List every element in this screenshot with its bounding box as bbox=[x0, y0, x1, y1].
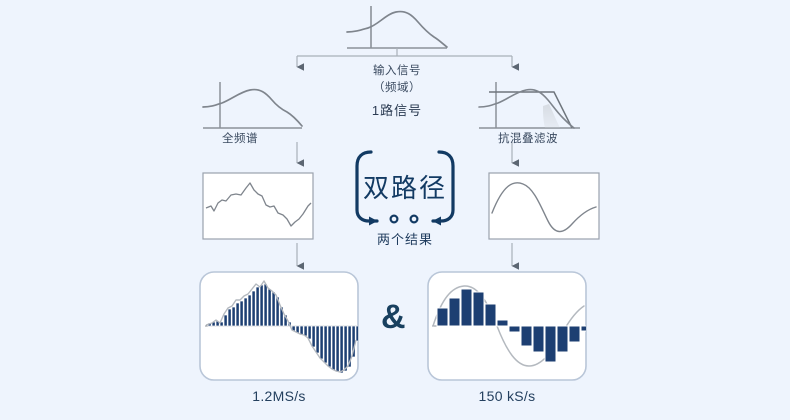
branch-label-anti-alias: 抗混叠滤波 bbox=[498, 130, 678, 146]
bracket-dot-right bbox=[411, 216, 418, 223]
filter-response-curve bbox=[489, 92, 572, 128]
rate-label-low: 150 kS/s bbox=[427, 388, 587, 404]
sine-box bbox=[489, 173, 599, 239]
wideband-box bbox=[203, 173, 313, 239]
ampersand-separator: & bbox=[381, 300, 406, 334]
input-signal-label-line2: （频域） bbox=[347, 79, 447, 95]
chart-anti-alias-filter bbox=[479, 82, 580, 128]
panel-high-rate-result bbox=[200, 272, 359, 380]
input-channel-count-label: 1路信号 bbox=[337, 100, 457, 119]
dual-path-badge-label: 双路径 bbox=[355, 168, 455, 205]
full-spectrum-curve bbox=[203, 90, 302, 126]
input-signal-label-line1: 输入信号 bbox=[347, 62, 447, 78]
branch-label-full-spectrum: 全频谱 bbox=[222, 130, 382, 146]
filter-stopband-shading bbox=[543, 104, 560, 128]
chart-full-spectrum bbox=[203, 82, 302, 128]
chart-input-spectrum bbox=[347, 6, 447, 48]
chart-sine-timeseries bbox=[489, 173, 599, 239]
panel-low-rate-result bbox=[428, 272, 589, 380]
chart-wideband-timeseries bbox=[203, 173, 313, 239]
bracket-dot-left bbox=[391, 216, 398, 223]
filter-signal-curve bbox=[479, 90, 574, 128]
diagram-canvas: 输入信号 （频域） 1路信号 全频谱 抗混叠滤波 双路径 两个结果 & 1.2M… bbox=[0, 0, 790, 420]
input-spectrum-curve bbox=[347, 12, 447, 47]
dual-path-result-label: 两个结果 bbox=[355, 229, 455, 248]
rate-label-high: 1.2MS/s bbox=[199, 388, 359, 404]
